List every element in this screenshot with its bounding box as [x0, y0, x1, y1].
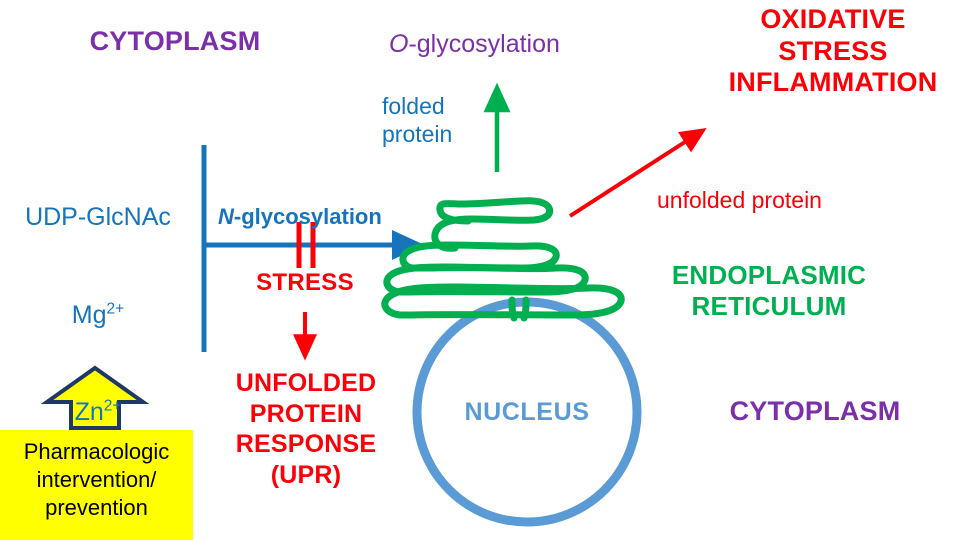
- diagram-canvas: CYTOPLASM UDP-GlcNAc Mg2+ Zn2+ NAD/NADPH…: [0, 0, 969, 540]
- stress-label: STRESS: [232, 270, 378, 297]
- cytoplasm-right-label: CYTOPLASM: [702, 396, 928, 426]
- o-glycosylation-label: O-glycosylation: [389, 30, 560, 58]
- endoplasmic-reticulum-label: ENDOPLASMIC RETICULUM: [636, 260, 902, 322]
- nucleus-label: NUCLEUS: [437, 398, 617, 426]
- substrate-item-mg: Mg2+: [0, 299, 196, 332]
- o-glycosylation-italic-prefix: O: [389, 30, 408, 58]
- n-glycosylation-label: N-glycosylation: [218, 205, 382, 230]
- upr-label: UNFOLDED PROTEIN RESPONSE (UPR): [215, 368, 397, 490]
- o-glycosylation-suffix: -glycosylation: [408, 30, 559, 58]
- substrate-item-zn: Zn2+: [0, 396, 196, 429]
- substrate-item-udp-glcnac: UDP-GlcNAc: [0, 201, 196, 234]
- pharmacologic-intervention-box: Pharmacologic intervention/ prevention: [0, 430, 193, 540]
- endoplasmic-reticulum-cisternae: [385, 201, 621, 318]
- unfolded-protein-label: unfolded protein: [657, 188, 822, 214]
- cytoplasm-left-label: CYTOPLASM: [60, 26, 290, 56]
- oxidative-stress-inflammation-label: OXIDATIVE STRESS INFLAMMATION: [698, 4, 968, 99]
- n-glycosylation-suffix: -glycosylation: [234, 204, 382, 229]
- n-glycosylation-italic-prefix: N: [218, 204, 234, 229]
- folded-protein-label: folded protein: [382, 92, 452, 148]
